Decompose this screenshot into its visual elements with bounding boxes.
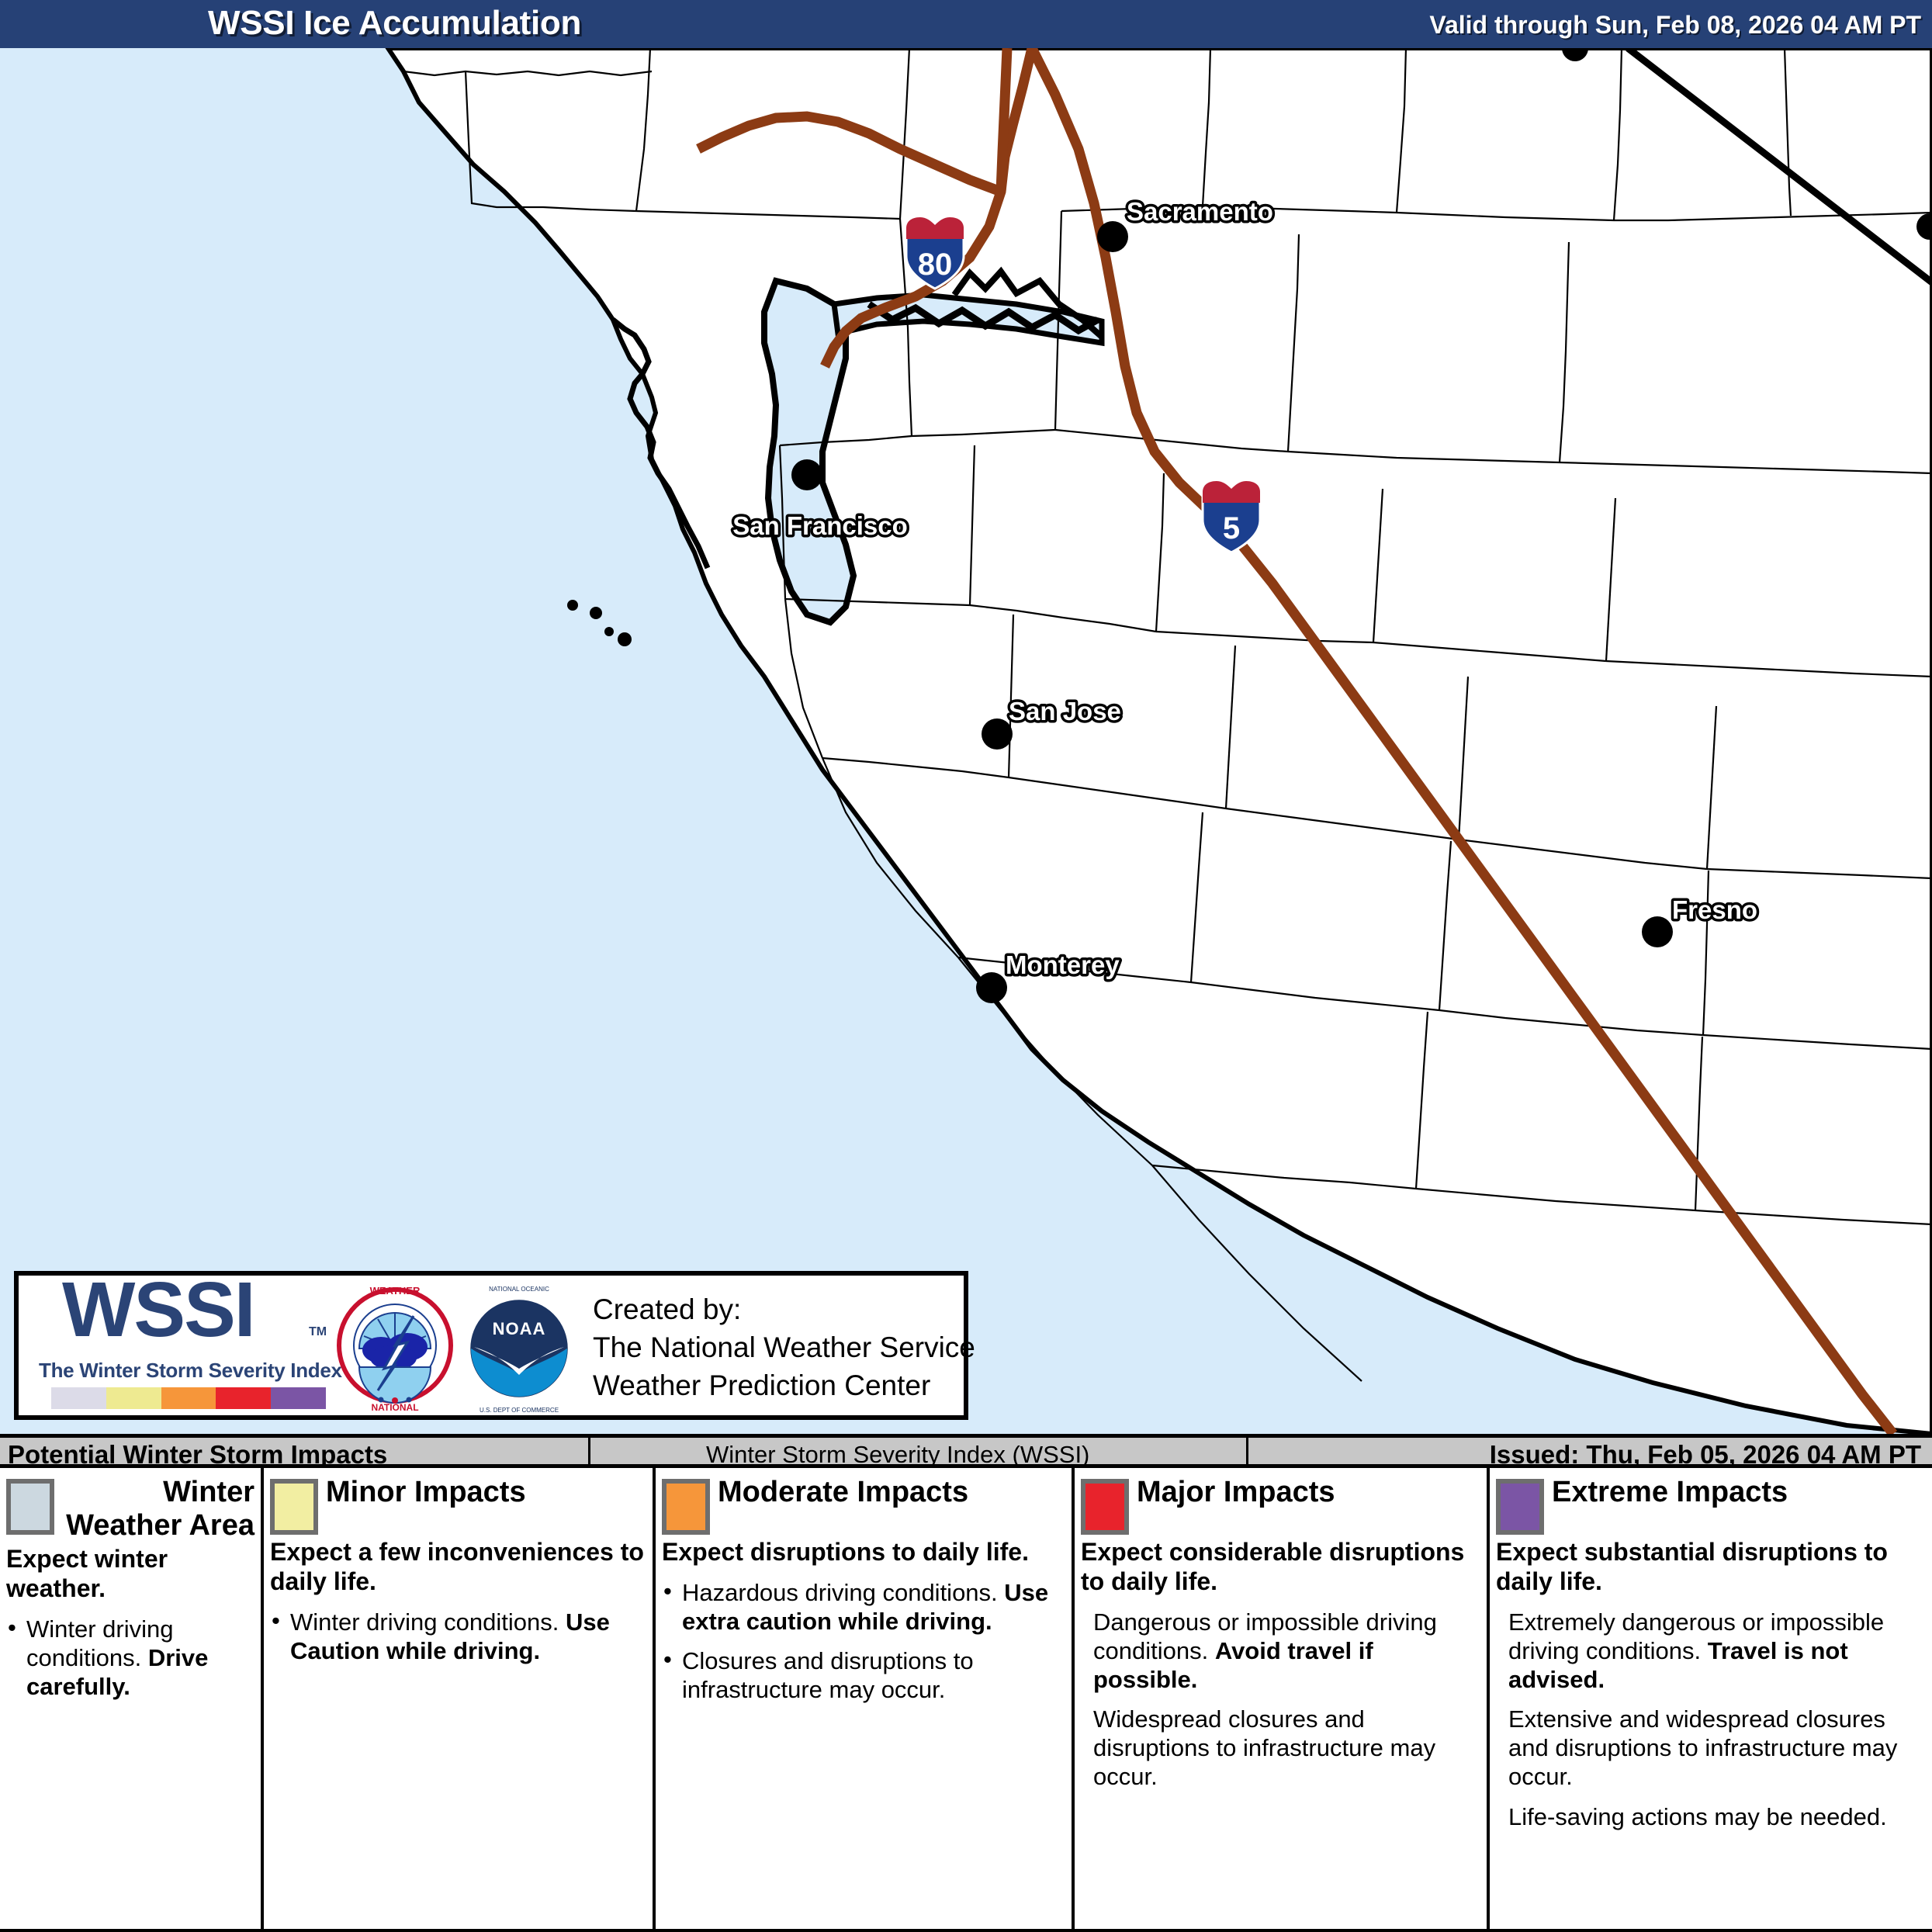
greybar-divider-2 [1246,1438,1248,1464]
legend-item-normal: Extensive and widespread closures and di… [1508,1705,1897,1790]
legend-column-moderate-impacts: Moderate Impacts Expect disruptions to d… [656,1468,1075,1929]
legend-item: Extensive and widespread closures and di… [1496,1705,1926,1792]
legend-swatch-extreme-impacts [1496,1479,1544,1535]
legend-items-extreme-impacts: Extremely dangerous or impossible drivin… [1496,1608,1926,1831]
strip-swatch-extreme [271,1387,326,1409]
legend-column-major-impacts: Major Impacts Expect considerable disrup… [1075,1468,1490,1929]
legend-item-normal: Widespread closures and disruptions to i… [1093,1705,1435,1790]
legend-swatch-major-impacts [1081,1479,1129,1535]
wssi-subtitle: The Winter Storm Severity Index [39,1359,342,1383]
legend-title-minor-impacts: Minor Impacts [326,1476,646,1509]
wssi-trademark: TM [309,1325,327,1339]
page-title: WSSI Ice Accumulation [208,4,581,43]
legend-title-extreme-impacts: Extreme Impacts [1552,1476,1926,1509]
legend-item-normal: Winter driving conditions. [290,1608,566,1636]
strip-swatch-major [216,1387,271,1409]
city-label-fresno: Fresno [1672,895,1757,924]
legend-items-winter-weather-area: Winter driving conditions. Drive careful… [6,1615,254,1702]
legend-swatch-winter-weather-area [6,1479,54,1535]
legend-header: Major Impacts [1081,1476,1480,1535]
legend-item: Closures and disruptions to infrastructu… [662,1646,1065,1704]
legend-column-winter-weather-area: Winter Weather Area Expect winter weathe… [0,1468,264,1929]
svg-text:WEATHER: WEATHER [370,1285,421,1297]
city-label-monterey: Monterey [1006,950,1120,979]
wssi-fullname-label: Winter Storm Severity Index (WSSI) [706,1441,1089,1469]
city-dot-san-francisco [791,459,822,490]
greybar-divider-1 [588,1438,590,1464]
island-dot [590,607,602,619]
legend-item: Winter driving conditions. Drive careful… [6,1615,254,1702]
impacts-title-bar: Potential Winter Storm Impacts Winter St… [0,1434,1932,1468]
legend-item: Widespread closures and disruptions to i… [1081,1705,1480,1792]
legend-title-major-impacts: Major Impacts [1137,1476,1480,1509]
legend-item: Life-saving actions may be needed. [1496,1802,1926,1831]
island-dot [567,600,578,611]
city-dot-san-jose [982,718,1013,750]
strip-swatch-moderate [161,1387,216,1409]
svg-text:80: 80 [918,248,953,282]
wssi-logo: WSSI TM The Winter Storm Severity Index [37,1277,340,1417]
svg-text:5: 5 [1223,511,1240,545]
legend-item: Extremely dangerous or impossible drivin… [1496,1608,1926,1695]
highway-i80-north [1001,48,1007,192]
legend-item: Hazardous driving conditions. Use extra … [662,1578,1065,1636]
city-label-san-francisco: San Francisco [732,511,908,540]
legend-items-moderate-impacts: Hazardous driving conditions. Use extra … [662,1578,1065,1705]
legend-header: Minor Impacts [270,1476,646,1535]
legend-lead-extreme-impacts: Expect substantial disruptions to daily … [1496,1538,1926,1597]
noaa-logo-icon: NOAA NATIONAL OCEANIC U.S. DEPT OF COMME… [457,1282,581,1415]
legend-title-moderate-impacts: Moderate Impacts [718,1476,1065,1509]
legend-header: Moderate Impacts [662,1476,1065,1535]
legend-lead-moderate-impacts: Expect disruptions to daily life. [662,1538,1065,1567]
svg-text:NOAA: NOAA [493,1319,546,1338]
created-by-text: Created by: The National Weather Service… [593,1291,975,1404]
wssi-credit-box: WSSI TM The Winter Storm Severity Index … [14,1271,968,1420]
legend-header: Extreme Impacts [1496,1476,1926,1535]
strip-swatch-minor [106,1387,161,1409]
legend-lead-winter-weather-area: Expect winter weather. [6,1545,254,1604]
wssi-color-strip [51,1387,326,1409]
svg-text:U.S. DEPT OF COMMERCE: U.S. DEPT OF COMMERCE [480,1407,559,1414]
header-bar: WSSI Ice Accumulation Valid through Sun,… [0,0,1932,48]
legend-item-normal: Life-saving actions may be needed. [1508,1803,1887,1830]
svg-text:NATIONAL: NATIONAL [371,1402,418,1413]
legend-items-minor-impacts: Winter driving conditions. Use Caution w… [270,1608,646,1665]
legend-items-major-impacts: Dangerous or impossible driving conditio… [1081,1608,1480,1792]
island-dot [604,627,614,636]
created-by-line-0: Created by: [593,1291,975,1329]
svg-text:NATIONAL OCEANIC: NATIONAL OCEANIC [489,1286,549,1293]
national-weather-service-logo-icon: WEATHER NATIONAL [333,1282,457,1415]
created-by-line-2: Weather Prediction Center [593,1367,975,1405]
strip-swatch-winter-weather [51,1387,106,1409]
valid-through-text: Valid through Sun, Feb 08, 2026 04 AM PT [1429,11,1921,40]
city-dot-sacramento [1097,221,1128,252]
legend-item-normal: Hazardous driving conditions. [682,1579,1004,1606]
wssi-wordmark: WSSI [62,1271,254,1349]
legend-item-normal: Closures and disruptions to infrastructu… [682,1647,974,1703]
weather-map[interactable]: 80 5 Sacramento San Francisco San Jose F… [0,48,1932,1434]
city-label-sacramento: Sacramento [1127,197,1273,226]
issued-label: Issued: Thu, Feb 05, 2026 04 AM PT [1490,1440,1921,1470]
city-dot-monterey [976,972,1007,1003]
legend-column-extreme-impacts: Extreme Impacts Expect substantial disru… [1490,1468,1932,1929]
legend-swatch-minor-impacts [270,1479,318,1535]
city-label-san-jose: San Jose [1009,697,1121,725]
legend-lead-major-impacts: Expect considerable disruptions to daily… [1081,1538,1480,1597]
legend-header: Winter Weather Area [6,1476,254,1542]
potential-impacts-label: Potential Winter Storm Impacts [8,1440,387,1470]
impacts-legend: Winter Weather Area Expect winter weathe… [0,1468,1932,1932]
legend-item: Winter driving conditions. Use Caution w… [270,1608,646,1665]
legend-item: Dangerous or impossible driving conditio… [1081,1608,1480,1695]
legend-title-winter-weather-area: Winter Weather Area [62,1476,254,1542]
legend-lead-minor-impacts: Expect a few inconveniences to daily lif… [270,1538,646,1597]
legend-column-minor-impacts: Minor Impacts Expect a few inconvenience… [264,1468,656,1929]
island-dot [618,632,632,646]
created-by-line-1: The National Weather Service [593,1329,975,1367]
city-dot-fresno [1642,916,1673,947]
map-svg: 80 5 Sacramento San Francisco San Jose F… [0,48,1932,1434]
legend-swatch-moderate-impacts [662,1479,710,1535]
